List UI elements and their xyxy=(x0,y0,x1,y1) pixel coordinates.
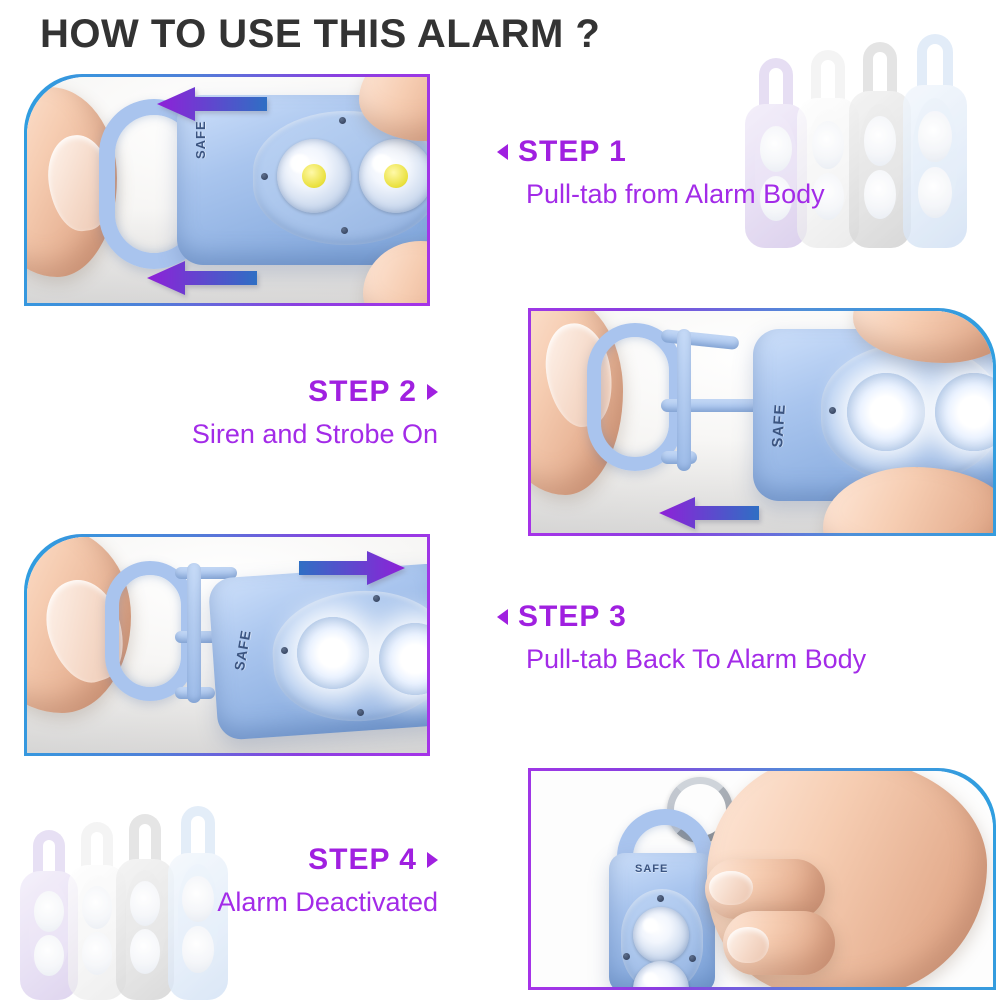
screw xyxy=(339,117,346,124)
panel-photo: SAFE xyxy=(27,77,427,303)
safe-label: SAFE xyxy=(769,403,789,448)
panel-border: SAFE xyxy=(528,308,996,536)
step-3-text: STEP 3 Pull-tab Back To Alarm Body xyxy=(497,600,866,675)
triangle-right-icon xyxy=(427,852,438,868)
step-2-label: STEP 2 xyxy=(308,375,417,409)
product-led xyxy=(82,886,112,929)
led-lens-lit xyxy=(297,617,369,689)
step-3-heading: STEP 3 xyxy=(497,600,866,634)
safe-label: SAFE xyxy=(635,863,668,875)
product-led xyxy=(864,170,896,219)
screw xyxy=(357,709,364,716)
panel-border: SAFE xyxy=(24,74,430,306)
safe-label: SAFE xyxy=(193,120,208,159)
step-4-description: Alarm Deactivated xyxy=(217,887,438,918)
pull-tab-spine xyxy=(677,329,691,471)
fingernail xyxy=(727,927,769,963)
screw xyxy=(689,955,696,962)
panel-border: SAFE xyxy=(528,768,996,990)
pull-tab-rail xyxy=(661,399,761,412)
screw xyxy=(829,407,836,414)
arrow-left-top xyxy=(157,87,267,121)
pull-tab-spine xyxy=(187,563,201,703)
step-2-heading: STEP 2 xyxy=(192,375,438,409)
product-gray xyxy=(116,814,174,1000)
step-4-label: STEP 4 xyxy=(308,843,417,877)
screw xyxy=(373,595,380,602)
step-1-heading: STEP 1 xyxy=(497,135,825,169)
led-lens xyxy=(359,139,427,213)
panel-step-1: SAFE xyxy=(24,74,430,306)
pull-tab-loop xyxy=(587,323,683,471)
arrow-left xyxy=(659,497,759,529)
led-lens xyxy=(633,907,689,963)
arrow-left-bottom xyxy=(147,261,257,295)
screw xyxy=(657,895,664,902)
lens-bulb xyxy=(384,164,408,188)
product-led xyxy=(182,926,213,973)
lens-glint xyxy=(643,918,658,933)
product-led xyxy=(130,881,160,926)
panel-photo: SAFE xyxy=(27,537,427,753)
triangle-left-icon xyxy=(497,609,508,625)
triangle-right-icon xyxy=(427,384,438,400)
product-led xyxy=(918,167,951,218)
product-led xyxy=(918,111,951,162)
step-1-description: Pull-tab from Alarm Body xyxy=(526,179,825,210)
step-2-description: Siren and Strobe On xyxy=(192,419,438,450)
led-lens xyxy=(277,139,351,213)
step-1-text: STEP 1 Pull-tab from Alarm Body xyxy=(497,135,825,210)
panel-border: SAFE xyxy=(24,534,430,756)
product-led xyxy=(82,932,112,975)
lens-glint xyxy=(643,972,658,987)
product-gray xyxy=(849,42,911,248)
product-led xyxy=(130,929,160,974)
product-led xyxy=(864,116,896,165)
product-led xyxy=(182,876,213,923)
led-lens-lit xyxy=(847,373,925,451)
panel-photo: SAFE xyxy=(531,311,993,533)
product-led xyxy=(34,891,64,932)
product-group-top xyxy=(745,18,995,248)
page-title: HOW TO USE THIS ALARM ? xyxy=(40,12,600,57)
panel-step-3: SAFE xyxy=(24,534,430,756)
infographic-canvas: HOW TO USE THIS ALARM ? xyxy=(0,0,1000,1000)
panel-step-4: SAFE xyxy=(528,768,996,990)
product-led xyxy=(34,935,64,976)
lens-bulb xyxy=(302,164,326,188)
screw xyxy=(623,953,630,960)
panel-photo: SAFE xyxy=(531,771,993,987)
step-4-heading: STEP 4 xyxy=(217,843,438,877)
screw xyxy=(261,173,268,180)
screw xyxy=(281,647,288,654)
step-1-label: STEP 1 xyxy=(518,135,627,169)
step-2-text: STEP 2 Siren and Strobe On xyxy=(192,375,438,450)
screw xyxy=(341,227,348,234)
triangle-left-icon xyxy=(497,144,508,160)
fingernail xyxy=(709,871,753,905)
step-3-label: STEP 3 xyxy=(518,600,627,634)
step-3-description: Pull-tab Back To Alarm Body xyxy=(526,644,866,675)
arrow-right xyxy=(299,551,405,585)
product-light-blue xyxy=(903,34,967,248)
panel-step-2: SAFE xyxy=(528,308,996,536)
step-4-text: STEP 4 Alarm Deactivated xyxy=(217,843,438,918)
